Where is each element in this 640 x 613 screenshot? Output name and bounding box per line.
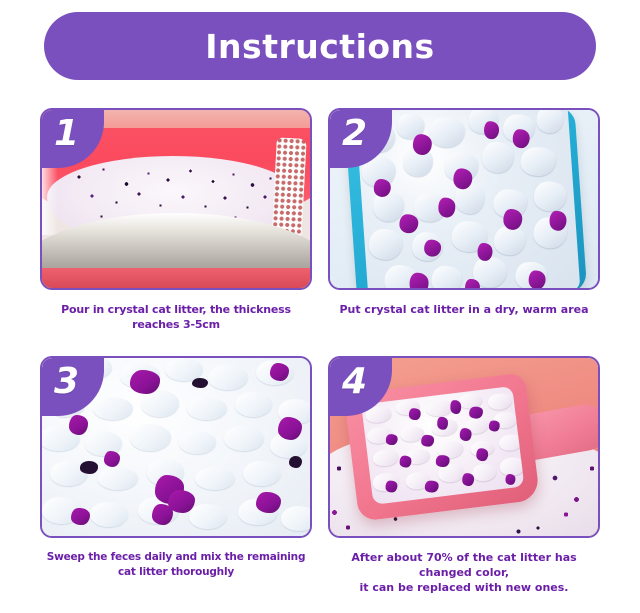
page-title: Instructions <box>205 27 434 66</box>
purple-crystal <box>528 270 546 290</box>
purple-crystal <box>71 508 90 526</box>
step-1-caption: Pour in crystal cat litter, the thicknes… <box>40 302 312 332</box>
step-card-2: 2 Put crystal cat litter in a dry, warm … <box>328 108 600 332</box>
crystal-chunk <box>428 116 466 149</box>
crystal-chunk <box>189 504 227 529</box>
step-number-3: 3 <box>54 364 79 400</box>
crystal-chunk <box>130 424 170 451</box>
step-card-1: 1 Pour in crystal cat litter, the thickn… <box>40 108 312 332</box>
crystal-chunk <box>430 265 464 290</box>
crystal-chunk <box>179 431 217 454</box>
crystal-chunk <box>499 433 525 452</box>
crystal-chunk <box>98 467 138 490</box>
purple-crystal <box>69 415 88 435</box>
crystal-chunk <box>368 228 404 261</box>
step-2-caption: Put crystal cat litter in a dry, warm ar… <box>328 302 600 317</box>
step-3-image-card: 3 <box>40 356 312 538</box>
crystal-chunk <box>372 448 399 467</box>
step-4-caption: After about 70% of the cat litter has ch… <box>328 550 600 595</box>
purple-crystal <box>408 407 421 421</box>
crystal-chunk <box>487 392 513 411</box>
purple-crystal <box>278 417 302 440</box>
purple-crystal <box>469 405 484 419</box>
crystal-chunk <box>141 390 179 417</box>
step-number-2: 2 <box>342 116 367 152</box>
crystal-chunk <box>472 463 498 482</box>
crystal-chunk <box>90 502 128 527</box>
dark-speck <box>192 378 208 389</box>
step-1-image-card: 1 <box>40 108 312 290</box>
steps-grid: 1 Pour in crystal cat litter, the thickn… <box>0 108 640 595</box>
step-card-4: 4 After about 70% of the cat litter has … <box>328 356 600 595</box>
crystal-chunk <box>281 506 312 531</box>
crystal-chunk <box>208 365 248 390</box>
header-banner: Instructions <box>44 12 596 80</box>
purple-crystal <box>502 208 522 230</box>
purple-crystal <box>152 504 173 525</box>
crystal-chunk <box>195 467 235 490</box>
crystal-chunk <box>243 461 281 486</box>
crystal-chunk <box>519 146 557 177</box>
step-card-3: 3 Sweep the feces daily and mix the rema… <box>40 356 312 595</box>
purple-crystal <box>399 214 419 235</box>
purple-crystal <box>438 198 456 218</box>
step-number-1: 1 <box>54 116 79 152</box>
purple-crystal <box>425 479 440 493</box>
steps-row-bottom: 3 Sweep the feces daily and mix the rema… <box>0 356 640 595</box>
crystal-chunk <box>481 142 515 175</box>
litter-box-base <box>42 268 310 288</box>
purple-crystal <box>399 455 412 469</box>
crystal-chunk <box>224 426 264 451</box>
step-3-caption: Sweep the feces daily and mix the remain… <box>40 550 312 580</box>
purple-crystal <box>484 121 500 139</box>
purple-crystal <box>104 451 120 467</box>
steps-row-top: 1 Pour in crystal cat litter, the thickn… <box>0 108 640 332</box>
purple-crystal <box>421 434 436 448</box>
instructions-page: Instructions <box>0 0 640 613</box>
dark-speck <box>289 456 302 468</box>
purple-crystal <box>130 370 159 393</box>
purple-crystal <box>512 129 530 149</box>
crystal-chunk <box>493 226 527 257</box>
step-2-image-card: 2 <box>328 108 600 290</box>
crystal-chunk <box>235 392 273 417</box>
crystal-chunk <box>536 108 565 134</box>
purple-crystal <box>476 448 490 463</box>
purple-crystal <box>409 273 429 290</box>
scoop-contents <box>362 386 524 505</box>
purple-crystal <box>386 433 399 446</box>
step-number-4: 4 <box>342 364 367 400</box>
crystal-chunk <box>532 180 568 213</box>
purple-crystal <box>256 492 280 513</box>
crystal-chunk <box>93 397 133 420</box>
step-4-image-card: 4 <box>328 356 600 538</box>
dark-speck <box>80 461 99 473</box>
litter-box-top-edge <box>96 110 310 128</box>
crystal-chunk <box>187 397 227 420</box>
purple-crystal <box>270 363 289 381</box>
